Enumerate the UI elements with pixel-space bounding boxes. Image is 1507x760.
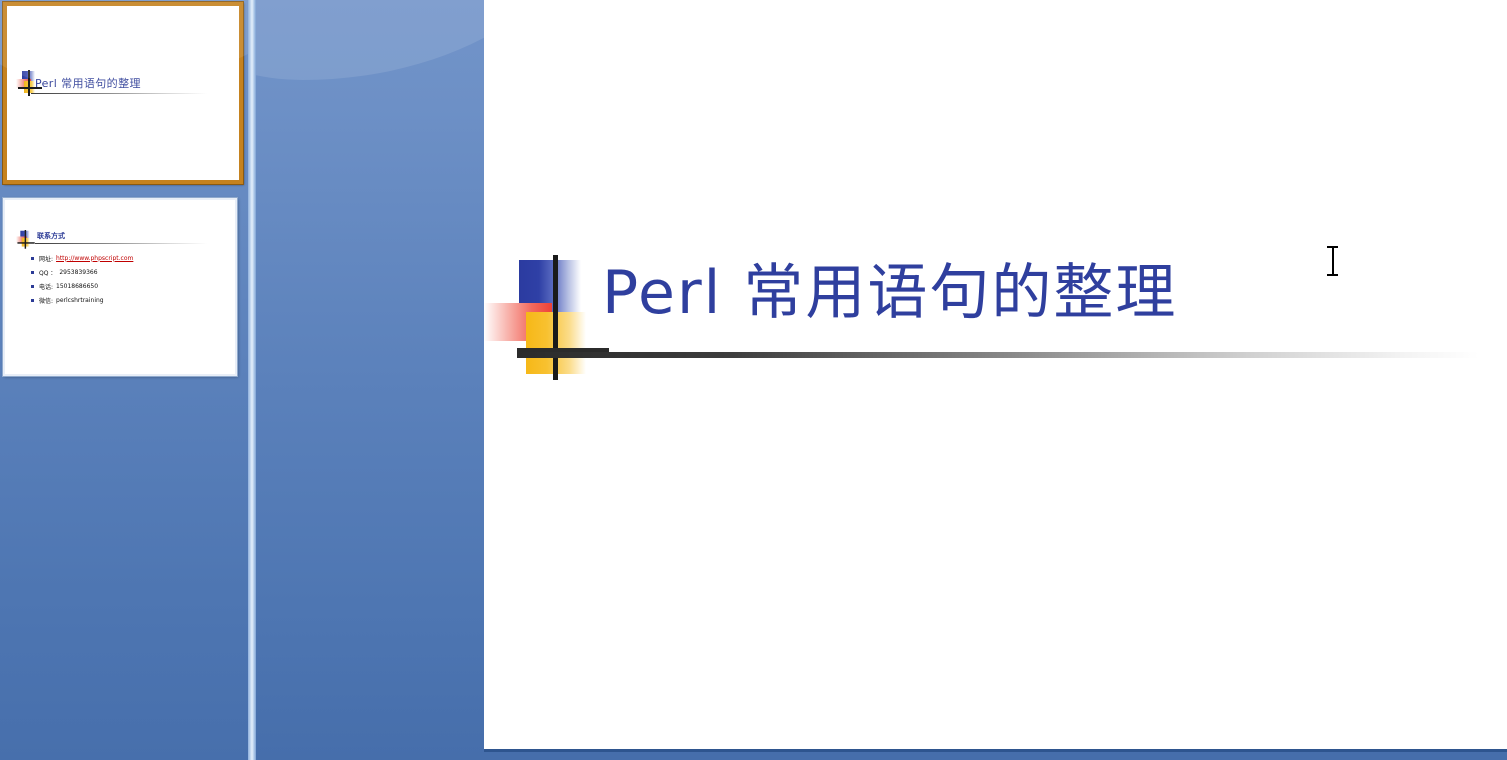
slide-thumbnail-2-contact-list: 网址: http://www.phpscript.com QQ ： 295383… [31, 251, 231, 307]
bullet-icon [31, 257, 34, 260]
slide-work-area: Perl 常用语句的整理 [256, 0, 1507, 760]
logo-horizontal-bar [17, 242, 34, 243]
logo-vertical-bar [553, 255, 558, 380]
ibeam-top-cap [1327, 246, 1338, 248]
contact-label: 微信: [39, 296, 53, 305]
list-item: 电话: 15018686650 [31, 279, 231, 293]
ibeam-stem [1332, 248, 1334, 274]
contact-value: 15018686650 [56, 283, 98, 290]
powerpoint-window: Perl 常用语句的整理 联系方式 网址: [0, 0, 1507, 760]
logo-vertical-bar [28, 70, 30, 96]
list-item: 微信: perlcshrtraining [31, 293, 231, 307]
list-item: QQ ： 2953839366 [31, 265, 231, 279]
pane-splitter[interactable] [248, 0, 256, 760]
contact-label: QQ ： [39, 268, 56, 277]
slide-thumbnail-1-rule [31, 93, 207, 94]
slide-thumbnail-2-canvas: 联系方式 网址: http://www.phpscript.com QQ ： 2… [5, 200, 235, 374]
slide-thumbnail-2[interactable]: 联系方式 网址: http://www.phpscript.com QQ ： 2… [3, 198, 237, 376]
contact-value: perlcshrtraining [56, 297, 104, 304]
bullet-icon [31, 299, 34, 302]
ibeam-bottom-cap [1327, 274, 1338, 276]
slide-thumbnail-1-title: Perl 常用语句的整理 [35, 75, 141, 91]
slide-editing-canvas[interactable]: Perl 常用语句的整理 [484, 0, 1507, 752]
slide-title-block[interactable]: Perl 常用语句的整理 [484, 0, 1507, 749]
list-item: 网址: http://www.phpscript.com [31, 251, 231, 265]
bullet-icon [31, 285, 34, 288]
blends-logo-icon [484, 255, 609, 380]
slide-thumbnail-2-rule [35, 243, 207, 244]
contact-value: 2953839366 [59, 269, 97, 276]
logo-vertical-bar [25, 230, 26, 249]
slide-thumbnail-pane[interactable]: Perl 常用语句的整理 联系方式 网址: [0, 0, 248, 760]
contact-label: 网址: [39, 254, 53, 263]
text-ibeam-cursor [1327, 246, 1338, 276]
title-underline-rule [517, 352, 1479, 358]
slide-thumbnail-1-canvas: Perl 常用语句的整理 [7, 6, 239, 180]
slide-thumbnail-1[interactable]: Perl 常用语句的整理 [3, 2, 243, 184]
contact-value-link[interactable]: http://www.phpscript.com [56, 255, 133, 262]
contact-label: 电话: [39, 282, 53, 291]
page-title[interactable]: Perl 常用语句的整理 [602, 262, 1177, 325]
bullet-icon [31, 271, 34, 274]
blends-logo-icon [16, 230, 38, 249]
slide-thumbnail-2-heading: 联系方式 [37, 231, 65, 241]
